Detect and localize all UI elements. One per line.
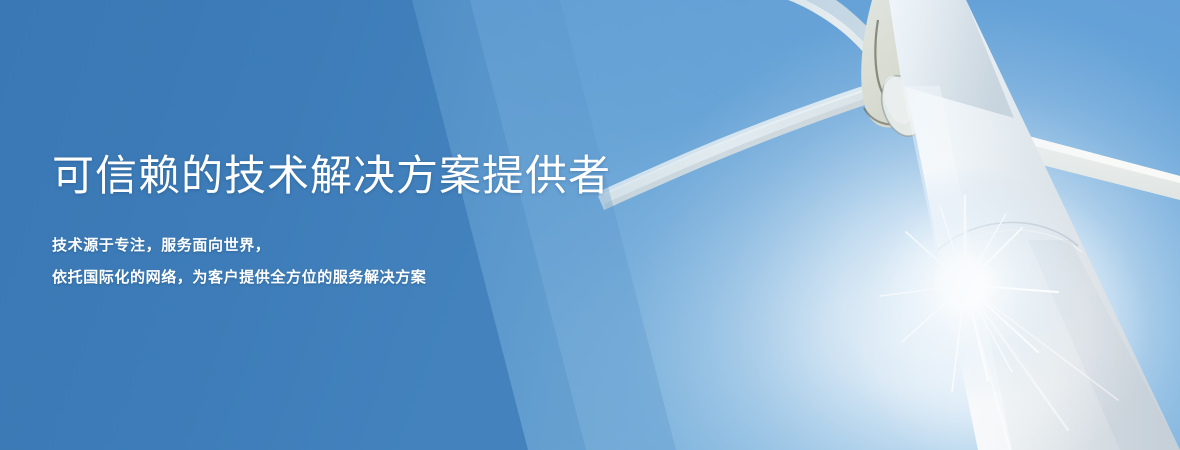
banner-headline: 可信赖的技术解决方案提供者 [52,148,672,204]
banner-subtitle: 技术源于专注，服务面向世界， 依托国际化的网络，为客户提供全方位的服务解决方案 [52,204,672,294]
banner-subtitle-line-1: 技术源于专注，服务面向世界， [52,230,672,262]
banner-copy: 可信赖的技术解决方案提供者 技术源于专注，服务面向世界， 依托国际化的网络，为客… [52,148,672,294]
hero-banner: 可信赖的技术解决方案提供者 技术源于专注，服务面向世界， 依托国际化的网络，为客… [0,0,1180,450]
banner-subtitle-line-2: 依托国际化的网络，为客户提供全方位的服务解决方案 [52,262,672,294]
